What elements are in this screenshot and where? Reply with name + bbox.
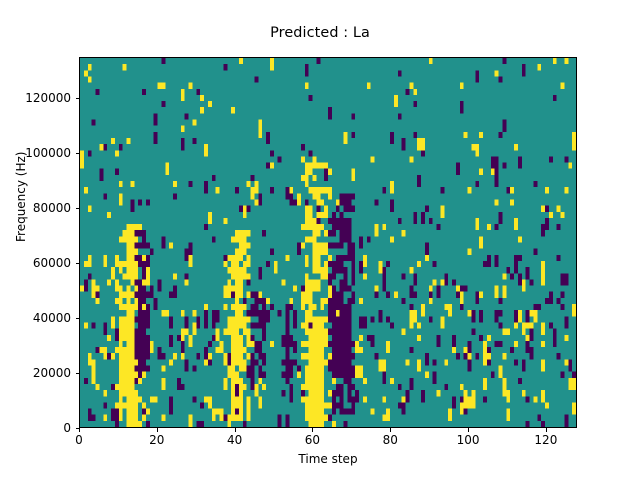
x-tick-label: 0 — [75, 433, 83, 447]
y-tick-label-text: 100000 — [25, 146, 71, 160]
x-tick-mark — [468, 428, 469, 432]
y-tick-label: 100000 — [71, 146, 117, 160]
x-tick-label: 80 — [383, 433, 398, 447]
x-tick-mark — [157, 428, 158, 432]
y-tick-label: 40000 — [71, 311, 109, 325]
y-tick-label: 120000 — [71, 91, 117, 105]
x-tick-mark — [390, 428, 391, 432]
y-tick-label-text: 20000 — [33, 366, 71, 380]
chart-title: Predicted : La — [0, 25, 640, 41]
heatmap-axes — [79, 57, 577, 428]
x-tick-label: 60 — [305, 433, 320, 447]
x-tick-label: 120 — [534, 433, 557, 447]
x-tick-label: 100 — [457, 433, 480, 447]
y-tick-label: 80000 — [71, 201, 109, 215]
x-tick-label: 40 — [227, 433, 242, 447]
y-tick-label-text: 80000 — [33, 201, 71, 215]
y-tick-label: 20000 — [71, 366, 109, 380]
x-tick-mark — [235, 428, 236, 432]
x-tick-label: 20 — [149, 433, 164, 447]
y-tick-label-text: 40000 — [33, 311, 71, 325]
x-tick-mark — [546, 428, 547, 432]
y-tick-label-text: 120000 — [25, 91, 71, 105]
x-tick-mark — [312, 428, 313, 432]
y-tick-label: 0 — [71, 421, 79, 435]
x-axis-label: Time step — [79, 452, 577, 466]
y-axis-label: Frequency (Hz) — [14, 152, 28, 243]
y-tick-label-text: 0 — [63, 421, 71, 435]
heatmap-image — [80, 58, 576, 427]
y-tick-label: 60000 — [71, 256, 109, 270]
matplotlib-figure: Predicted : La 020406080100120 020000400… — [0, 0, 640, 480]
y-tick-label-text: 60000 — [33, 256, 71, 270]
heatmap-canvas — [80, 58, 576, 427]
x-tick-mark — [79, 428, 80, 432]
